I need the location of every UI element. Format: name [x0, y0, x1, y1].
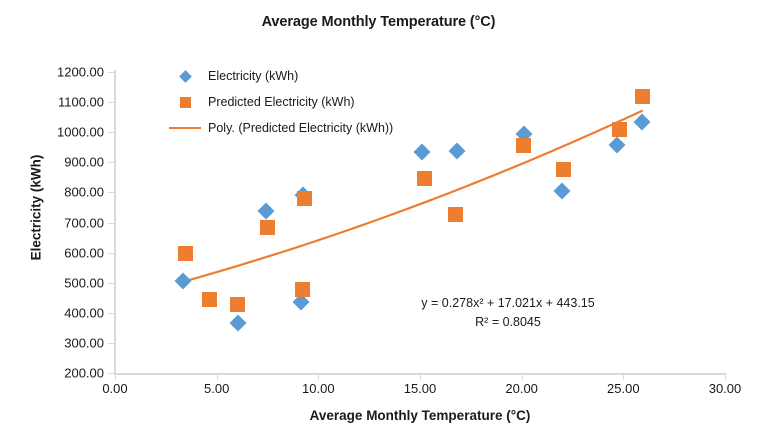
legend-label: Electricity (kWh) [202, 69, 298, 83]
y-tick-label: 1000.00 [18, 125, 104, 140]
x-tick-label: 25.00 [588, 381, 658, 396]
x-tick-mark [318, 374, 319, 380]
y-tick-label: 700.00 [18, 215, 104, 230]
y-tick-mark [108, 343, 115, 344]
x-tick-label: 30.00 [690, 381, 757, 396]
x-tick-label: 10.00 [283, 381, 353, 396]
chart-title: Average Monthly Temperature (°C) [0, 14, 757, 30]
data-point-square [202, 292, 217, 307]
data-point-square [448, 207, 463, 222]
y-tick-mark [108, 162, 115, 163]
y-tick-mark [108, 283, 115, 284]
x-axis-title: Average Monthly Temperature (°C) [115, 408, 725, 423]
x-tick-mark [217, 374, 218, 380]
y-tick-mark [108, 102, 115, 103]
legend-item-2[interactable]: Poly. (Predicted Electricity (kWh)) [168, 115, 393, 141]
data-point-square [556, 162, 571, 177]
x-tick-mark [115, 374, 116, 380]
y-tick-label: 500.00 [18, 275, 104, 290]
y-tick-mark [108, 192, 115, 193]
y-tick-mark [108, 313, 115, 314]
x-tick-mark [725, 374, 726, 380]
y-tick-mark [108, 373, 115, 374]
y-tick-label: 600.00 [18, 245, 104, 260]
legend-line-icon [168, 127, 202, 129]
data-point-square [230, 297, 245, 312]
x-tick-label: 0.00 [80, 381, 150, 396]
chart-container: Average Monthly Temperature (°C) Electri… [0, 0, 757, 443]
x-tick-mark [420, 374, 421, 380]
data-point-square [417, 171, 432, 186]
x-tick-label: 5.00 [182, 381, 252, 396]
equation-text: y = 0.278x² + 17.021x + 443.15 [383, 294, 633, 313]
y-tick-label: 300.00 [18, 335, 104, 350]
x-tick-mark [522, 374, 523, 380]
legend-square-icon [168, 97, 202, 108]
data-point-square [295, 282, 310, 297]
y-tick-label: 200.00 [18, 366, 104, 381]
y-tick-mark [108, 132, 115, 133]
data-point-square [178, 246, 193, 261]
y-tick-label: 800.00 [18, 185, 104, 200]
x-tick-label: 20.00 [487, 381, 557, 396]
y-tick-mark [108, 253, 115, 254]
y-tick-label: 1200.00 [18, 65, 104, 80]
y-tick-label: 1100.00 [18, 95, 104, 110]
data-point-square [516, 138, 531, 153]
r-squared-text: R² = 0.8045 [383, 313, 633, 332]
legend-item-0[interactable]: Electricity (kWh) [168, 63, 393, 89]
x-tick-label: 15.00 [385, 381, 455, 396]
y-tick-label: 400.00 [18, 305, 104, 320]
data-point-square [635, 89, 650, 104]
data-point-square [297, 191, 312, 206]
y-tick-label: 900.00 [18, 155, 104, 170]
data-point-square [260, 220, 275, 235]
legend-label: Poly. (Predicted Electricity (kWh)) [202, 121, 393, 135]
legend-item-1[interactable]: Predicted Electricity (kWh) [168, 89, 393, 115]
data-point-square [612, 122, 627, 137]
chart-legend: Electricity (kWh)Predicted Electricity (… [168, 63, 393, 141]
trendline-equation-annotation: y = 0.278x² + 17.021x + 443.15 R² = 0.80… [383, 294, 633, 332]
y-axis-tick-labels: 200.00300.00400.00500.00600.00700.00800.… [14, 0, 104, 443]
y-tick-mark [108, 72, 115, 73]
legend-diamond-icon [168, 72, 202, 81]
x-tick-mark [623, 374, 624, 380]
y-tick-mark [108, 223, 115, 224]
legend-label: Predicted Electricity (kWh) [202, 95, 355, 109]
